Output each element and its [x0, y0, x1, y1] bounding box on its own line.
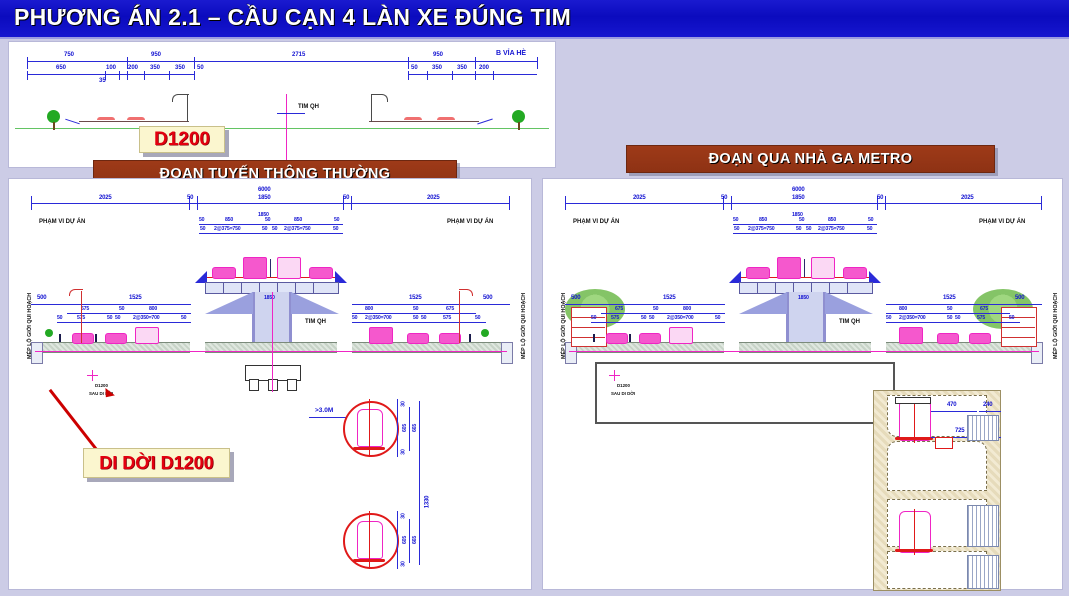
curb-left	[31, 342, 43, 364]
tree-icon	[45, 329, 53, 337]
pier-haunch-left	[739, 292, 787, 314]
dim-50-l2: 50	[107, 315, 112, 321]
label-tim-qh-left: TIM QH	[305, 319, 326, 325]
street-lamp-arm	[371, 94, 388, 102]
dim-50-b: 50	[343, 195, 349, 201]
curb-right	[501, 342, 513, 364]
dim-deck-850b-r: 850	[828, 217, 836, 223]
dim-1850-r: 1850	[792, 195, 805, 201]
vehicle-bus	[811, 257, 835, 279]
dim-2025-left-r: 2025	[633, 195, 646, 201]
pedestrian-icon	[629, 334, 631, 342]
dim-2715: 2715	[292, 52, 305, 58]
tick	[27, 57, 28, 69]
vehicle-icon	[127, 117, 145, 120]
vehicle-bus	[777, 257, 801, 279]
curb-right	[477, 119, 493, 125]
title-bar: PHƯƠNG ÁN 2.1 – CẦU CẠN 4 LÀN XE ĐÚNG TI…	[0, 0, 1069, 39]
metro-station-section-panel: 6000 2025 50 1850 50 2025 PHẠM VI DỰ ÁN …	[542, 178, 1063, 590]
tick	[408, 57, 409, 69]
dim-1525-right-r: 1525	[943, 295, 956, 301]
girder-cell	[295, 282, 315, 294]
label-edge-right: MÉP LỘ GIỚI QUI HOẠCH	[521, 293, 527, 359]
dim-line-deck-lower-r	[733, 233, 877, 234]
tick	[537, 57, 538, 69]
dim-50-r3: 50	[421, 315, 426, 321]
tick	[127, 71, 128, 80]
dim-50-l0-r: 50	[591, 315, 596, 321]
dim-line-gl-2	[57, 322, 191, 323]
tick	[408, 71, 409, 80]
tick	[144, 71, 145, 80]
slide-canvas: PHƯƠNG ÁN 2.1 – CẦU CẠN 4 LÀN XE ĐÚNG TI…	[0, 0, 1069, 596]
dim-offset-500-right: 500	[483, 295, 492, 301]
dim-station-725: 725	[955, 428, 964, 434]
dim-line-470	[931, 411, 977, 412]
tick	[351, 196, 352, 210]
vehicle-car	[969, 333, 991, 344]
girder-cell	[829, 282, 849, 294]
girder-cell	[223, 282, 243, 294]
tick	[427, 71, 428, 80]
girder-cell	[739, 282, 759, 294]
dim-line-deck-upper	[199, 224, 343, 225]
fence-bar	[1001, 337, 1035, 338]
pile	[287, 379, 297, 391]
dim-line-gl-0-r	[565, 304, 725, 305]
metro-train-profile	[899, 511, 931, 553]
pier-haunch-left	[205, 292, 253, 314]
dim-ext-line	[409, 519, 410, 563]
dim-50-r5-r: 50	[1009, 315, 1014, 321]
road-centerline-mark	[35, 351, 507, 352]
dim-tun-u-inner: 605	[402, 424, 408, 432]
vehicle-car	[309, 267, 333, 279]
dim-line-gl-0	[31, 304, 191, 305]
dim-50-r2: 50	[413, 315, 418, 321]
dim-deck-50b: 50	[265, 217, 270, 223]
station-wall-right-upper	[893, 362, 895, 390]
callout-d1200-label: D1200	[154, 129, 210, 151]
dim-line-upper	[27, 61, 537, 62]
vehicle-car	[746, 267, 770, 279]
dim-tun-l-bot: 30	[401, 561, 407, 566]
dim-675-left: 675	[81, 306, 89, 312]
dim-offset-500-left-r: 500	[571, 295, 580, 301]
dim-line-top	[31, 203, 509, 204]
dim-pier-1850-r: 1850	[798, 295, 809, 301]
page-title: PHƯƠNG ÁN 2.1 – CẦU CẠN 4 LÀN XE ĐÚNG TI…	[14, 4, 571, 31]
label-scope-left-r: PHẠM VI DỰ ÁN	[573, 219, 619, 225]
tick	[475, 71, 476, 80]
tick	[197, 196, 198, 210]
dim-50-left-r: 50	[653, 306, 658, 312]
dim-deck-50c: 50	[334, 217, 339, 223]
vehicle-icon	[437, 117, 455, 120]
vehicle-bus	[277, 257, 301, 279]
track-bed	[353, 447, 385, 450]
dim-2at350-right: 2@350=700	[365, 315, 391, 321]
pier-haunch-right	[825, 292, 873, 314]
dim-575-right: 575	[443, 315, 451, 321]
dim-800-left: 800	[149, 306, 157, 312]
callout-di-doi-label: DI DỜI D1200	[99, 453, 213, 474]
track-bed	[895, 549, 933, 552]
metro-train-profile	[899, 399, 931, 441]
road-surface-left	[79, 121, 189, 122]
centerline-marker	[286, 94, 287, 154]
vehicle-icon	[97, 117, 115, 120]
dim-deck-2at375a: 2@375=750	[214, 226, 240, 232]
curb-left	[65, 119, 80, 125]
tree-trunk	[518, 122, 520, 130]
dim-deck-l-50c: 50	[272, 226, 277, 232]
dim-35: 35	[99, 78, 106, 84]
dim-deck-l-50d: 50	[333, 226, 338, 232]
banner-right-label: ĐOẠN QUA NHÀ GA METRO	[709, 151, 913, 167]
dim-line-gl-2-r	[591, 322, 725, 323]
dim-station-240: 240	[983, 402, 992, 408]
dim-station-470: 470	[947, 402, 956, 408]
dim-50-a: 50	[187, 195, 193, 201]
street-lamp-icon	[81, 291, 82, 343]
pedestrian-icon	[593, 334, 595, 342]
station-stairs	[967, 555, 999, 589]
dim-2at350-left-r: 2@350=700	[667, 315, 693, 321]
tick	[731, 196, 732, 210]
street-lamp-arm	[69, 289, 83, 296]
dim-ext-line	[397, 399, 398, 457]
pedestrian-icon	[95, 334, 97, 342]
dim-2025-right-r: 2025	[961, 195, 974, 201]
tick	[194, 57, 195, 69]
girder-cell	[205, 282, 225, 294]
dim-50-l5-r: 50	[715, 315, 720, 321]
dim-tun-l-top: 30	[401, 513, 407, 518]
vehicle-car	[606, 333, 628, 344]
median-lamp-icon	[270, 259, 271, 277]
girder-cell	[757, 282, 777, 294]
dim-line-deck-lower	[199, 233, 343, 234]
label-tim-qh: TIM QH	[298, 104, 319, 110]
median-lamp-icon	[804, 259, 805, 277]
tick	[31, 196, 32, 210]
dim-deck-850b: 850	[294, 217, 302, 223]
pile	[268, 379, 278, 391]
vehicle-car	[72, 333, 94, 344]
dim-950-right: 950	[433, 52, 443, 58]
pedestrian-icon	[469, 334, 471, 342]
vehicle-truck	[135, 327, 159, 344]
dim-50-r: 50	[411, 65, 418, 71]
dim-50-right: 50	[413, 306, 418, 312]
dim-ext-line-spacing	[419, 401, 420, 565]
dim-350d: 350	[457, 65, 467, 71]
fence-bar	[1001, 317, 1035, 318]
label-clearance: >3.0M	[315, 407, 333, 414]
road-centerline-mark	[569, 351, 1039, 352]
road-surface-right	[369, 121, 479, 122]
dim-deck-2at375b: 2@375=750	[284, 226, 310, 232]
dim-750: 750	[64, 52, 74, 58]
dim-line-gr-2	[352, 322, 486, 323]
tick	[452, 71, 453, 80]
tree-icon	[481, 329, 489, 337]
dim-50-r2-r: 50	[947, 315, 952, 321]
vehicle-icon	[404, 117, 422, 120]
dim-50-left: 50	[119, 306, 124, 312]
dim-50-a-r: 50	[721, 195, 727, 201]
vehicle-truck	[899, 327, 923, 344]
vehicle-car	[105, 333, 127, 344]
existing-ground-line	[15, 128, 549, 129]
vehicle-truck	[669, 327, 693, 344]
dim-50-r5: 50	[475, 315, 480, 321]
dim-50-r0: 50	[352, 315, 357, 321]
dim-deck-2at375a-r: 2@375=750	[748, 226, 774, 232]
dim-50: 50	[197, 65, 204, 71]
dim-deck-50b-r: 50	[799, 217, 804, 223]
street-lamp-arm	[172, 94, 189, 102]
track-bed	[895, 437, 933, 440]
label-d1200-relocated: D1200	[95, 383, 108, 388]
top-cross-section-panel: 750 950 2715 950 B VỈA HÈ 650 100 200 35…	[8, 41, 556, 168]
relocated-pipe-marker-v	[92, 370, 93, 381]
dim-line-gr-0	[352, 304, 510, 305]
dim-350c: 350	[432, 65, 442, 71]
tick	[194, 71, 195, 80]
dim-575-right-r: 575	[977, 315, 985, 321]
dim-800-left-r: 800	[683, 306, 691, 312]
station-base-line	[595, 422, 895, 424]
label-scope-right-r: PHẠM VI DỰ ÁN	[979, 219, 1025, 225]
dim-1525-left: 1525	[129, 295, 142, 301]
dim-deck-l-50a: 50	[200, 226, 205, 232]
metro-train-profile	[357, 409, 383, 447]
label-tim-qh-right: TIM QH	[839, 319, 860, 325]
tick	[475, 57, 476, 69]
dim-tun-l-outer: 665	[412, 536, 418, 544]
dim-675-right-r: 675	[980, 306, 988, 312]
centerline-bar	[277, 113, 305, 114]
label-d1200-relocated-r: D1200	[617, 383, 630, 388]
fence-bar	[1001, 327, 1035, 328]
dim-2025-right: 2025	[427, 195, 440, 201]
tick	[119, 71, 120, 80]
tick	[27, 71, 28, 80]
tick	[169, 71, 170, 80]
dim-950: 950	[151, 52, 161, 58]
dim-total-6000: 6000	[258, 187, 271, 193]
dim-200: 200	[128, 65, 138, 71]
dim-675-right: 675	[446, 306, 454, 312]
dim-tun-u-outer: 665	[412, 424, 418, 432]
dim-tun-u-top: 30	[401, 401, 407, 406]
vehicle-bus	[243, 257, 267, 279]
dim-deck-50a-r: 50	[733, 217, 738, 223]
dim-line-top-r	[565, 203, 1041, 204]
dim-line-gr-2-r	[886, 322, 1020, 323]
girder-cell	[847, 282, 873, 294]
dim-deck-l-50a-r: 50	[734, 226, 739, 232]
dim-200-r: 200	[479, 65, 489, 71]
dim-line-gl-1	[67, 313, 191, 314]
dim-50-l0: 50	[57, 315, 62, 321]
vehicle-car	[407, 333, 429, 344]
tick	[1041, 196, 1042, 210]
station-wall-left	[595, 362, 597, 422]
typical-section-panel: 6000 2025 50 1850 50 2025 PHẠM VI DỰ ÁN …	[8, 178, 532, 590]
dim-350a: 350	[150, 65, 160, 71]
dim-2at350-right-r: 2@350=700	[899, 315, 925, 321]
didoi-arrow-head	[101, 388, 115, 401]
station-roof-line	[595, 362, 895, 364]
fence-bar	[571, 327, 605, 328]
label-sau-di-doi-r: SAU DI DỜI	[611, 391, 635, 396]
vehicle-truck	[369, 327, 393, 344]
dim-ext-line	[409, 407, 410, 451]
dim-deck-50a: 50	[199, 217, 204, 223]
dim-line-deck-upper-r	[733, 224, 877, 225]
dim-total-6000-r: 6000	[792, 187, 805, 193]
dim-deck-2at375b-r: 2@375=750	[818, 226, 844, 232]
dim-deck-l-50b-r: 50	[796, 226, 801, 232]
dim-ext-line	[397, 511, 398, 569]
callout-di-doi-d1200: DI DỜI D1200	[83, 448, 230, 478]
dim-tun-l-inner: 605	[402, 536, 408, 544]
dim-50-l3-r: 50	[649, 315, 654, 321]
label-edge-right-r: MÉP LỘ GIỚI QUI HOẠCH	[1053, 293, 1059, 359]
tick	[565, 196, 566, 210]
tick	[885, 196, 886, 210]
callout-d1200: D1200	[139, 126, 225, 153]
pier-haunch-right	[291, 292, 339, 314]
label-b-via-he: B VỈA HÈ	[496, 50, 526, 57]
tree-trunk	[53, 122, 55, 130]
pedestrian-icon	[59, 334, 61, 342]
dim-deck-50c-r: 50	[868, 217, 873, 223]
tick	[493, 71, 494, 80]
dim-offset-500-right-r: 500	[1015, 295, 1024, 301]
dim-575-left-r: 575	[611, 315, 619, 321]
dim-50-l3: 50	[115, 315, 120, 321]
dim-deck-850a-r: 850	[759, 217, 767, 223]
dim-50-l2-r: 50	[641, 315, 646, 321]
platform-roof	[895, 397, 931, 404]
dim-800-right-r: 800	[899, 306, 907, 312]
dim-2at350-left: 2@350=700	[133, 315, 159, 321]
dim-deck-l-50b: 50	[262, 226, 267, 232]
street-lamp-icon	[459, 291, 460, 343]
dim-deck-l-50c-r: 50	[806, 226, 811, 232]
dim-50-r0-r: 50	[886, 315, 891, 321]
vehicle-car	[212, 267, 236, 279]
pier-centerline	[272, 292, 273, 392]
dim-pier-1850: 1850	[264, 295, 275, 301]
station-stairs	[967, 415, 999, 441]
dim-2025-left: 2025	[99, 195, 112, 201]
vehicle-car	[843, 267, 867, 279]
label-scope-right: PHẠM VI DỰ ÁN	[447, 219, 493, 225]
dim-tun-u-bot: 30	[401, 449, 407, 454]
dim-100: 100	[106, 65, 116, 71]
label-scope-left: PHẠM VI DỰ ÁN	[39, 219, 85, 225]
dim-line-gr-0-r	[886, 304, 1042, 305]
dim-1525-right: 1525	[409, 295, 422, 301]
dim-deck-l-50d-r: 50	[867, 226, 872, 232]
dim-line-240	[979, 411, 1001, 412]
dim-tunnel-spacing: 1330	[424, 496, 430, 509]
dim-line-gr-1-r	[886, 313, 1010, 314]
dim-675-left-r: 675	[615, 306, 623, 312]
dim-50-b-r: 50	[877, 195, 883, 201]
dim-line-gr-1	[352, 313, 476, 314]
banner-metro-station-section: ĐOẠN QUA NHÀ GA METRO	[626, 145, 995, 173]
dim-line-gl-1-r	[601, 313, 725, 314]
vehicle-car	[439, 333, 461, 344]
dim-deck-850a: 850	[225, 217, 233, 223]
station-stairs	[967, 505, 999, 547]
fence-bar	[571, 337, 605, 338]
dim-offset-500-left: 500	[37, 295, 46, 301]
track-bed	[353, 559, 385, 562]
dim-650: 650	[56, 65, 66, 71]
street-lamp-arm	[459, 289, 473, 296]
fence-bar	[571, 317, 605, 318]
vehicle-car	[639, 333, 661, 344]
girder-cell	[313, 282, 339, 294]
dim-350b: 350	[175, 65, 185, 71]
pile	[249, 379, 259, 391]
dim-50-l5: 50	[181, 315, 186, 321]
metro-train-profile	[357, 521, 383, 559]
vehicle-car	[937, 333, 959, 344]
station-equipment-box	[935, 437, 953, 449]
dim-50-right-r: 50	[947, 306, 952, 312]
dim-1525-left-r: 1525	[663, 295, 676, 301]
tick	[509, 196, 510, 210]
dim-1850: 1850	[258, 195, 271, 201]
dim-50-r3-r: 50	[955, 315, 960, 321]
dim-800-right: 800	[365, 306, 373, 312]
relocated-pipe-marker-v	[614, 370, 615, 381]
